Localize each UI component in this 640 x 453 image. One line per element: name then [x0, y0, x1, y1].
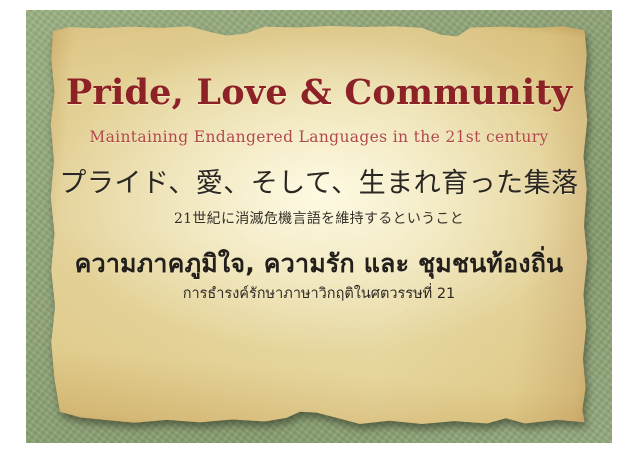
- slide-root: Pride, Love & Community Maintaining Enda…: [0, 0, 640, 453]
- subtitle-japanese: 21世紀に消滅危機言語を維持するということ: [174, 211, 464, 228]
- heading-thai: ความภาคภูมิใจ, ความรัก และ ชุมชนท้องถิ่น: [75, 248, 564, 279]
- page-title: Pride, Love & Community: [66, 75, 572, 112]
- subtitle-english: Maintaining Endangered Languages in the …: [89, 129, 548, 146]
- heading-japanese: プライド、愛、そして、生まれ育った集落: [59, 168, 578, 200]
- slide-content: Pride, Love & Community Maintaining Enda…: [48, 23, 590, 428]
- subtitle-thai: การธำรงค์รักษาภาษาวิกฤติในศตวรรษที่ 21: [183, 285, 456, 303]
